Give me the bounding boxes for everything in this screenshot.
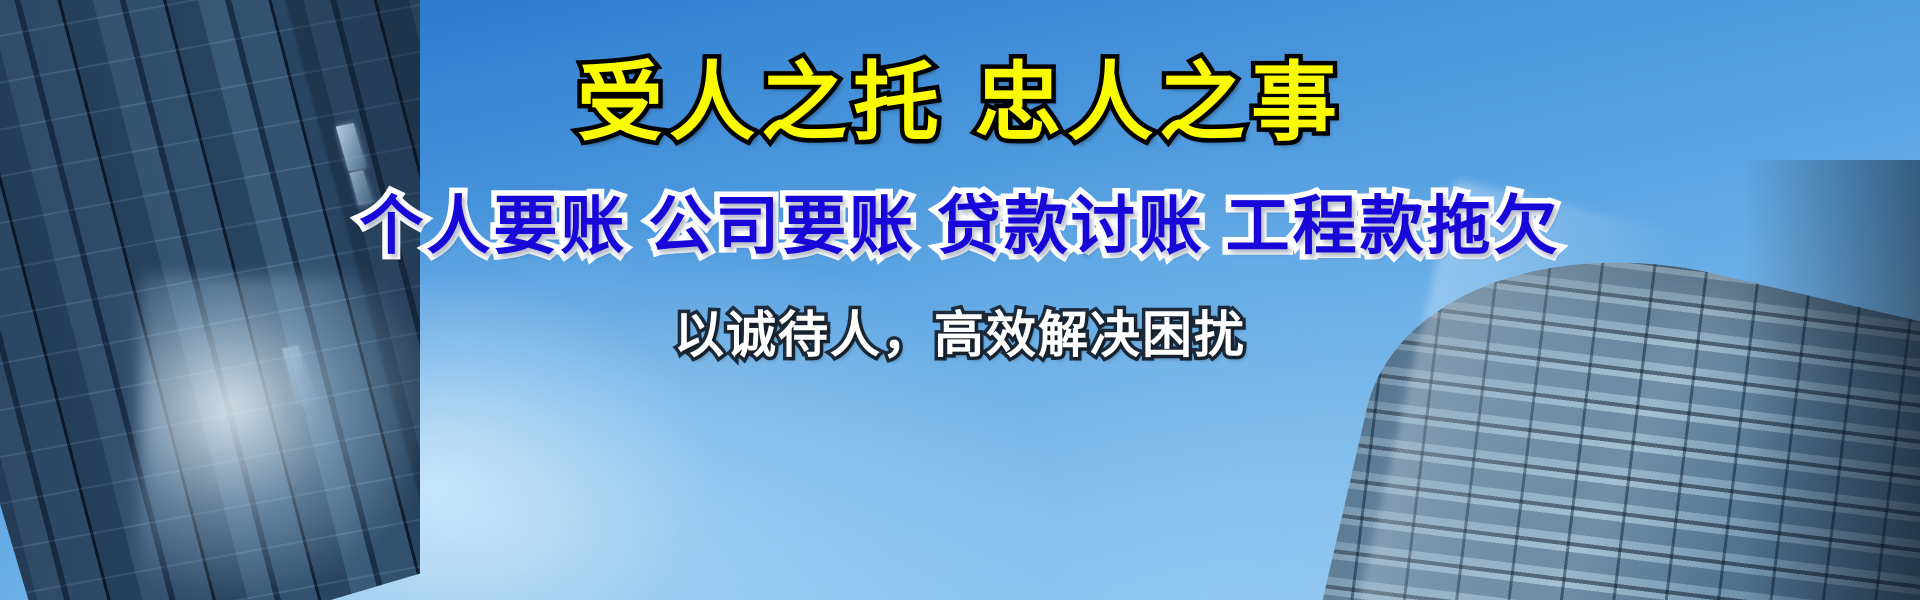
promotional-banner: 受人之托 忠人之事 个人要账 公司要账 贷款讨账 工程款拖欠 以诚待人，高效解决… [0, 0, 1920, 600]
banner-tagline: 以诚待人，高效解决困扰 [674, 310, 1246, 360]
banner-text-block: 受人之托 忠人之事 个人要账 公司要账 贷款讨账 工程款拖欠 以诚待人，高效解决… [0, 0, 1920, 600]
banner-services-line: 个人要账 公司要账 贷款讨账 工程款拖欠 [359, 194, 1560, 258]
banner-headline: 受人之托 忠人之事 [577, 60, 1343, 146]
